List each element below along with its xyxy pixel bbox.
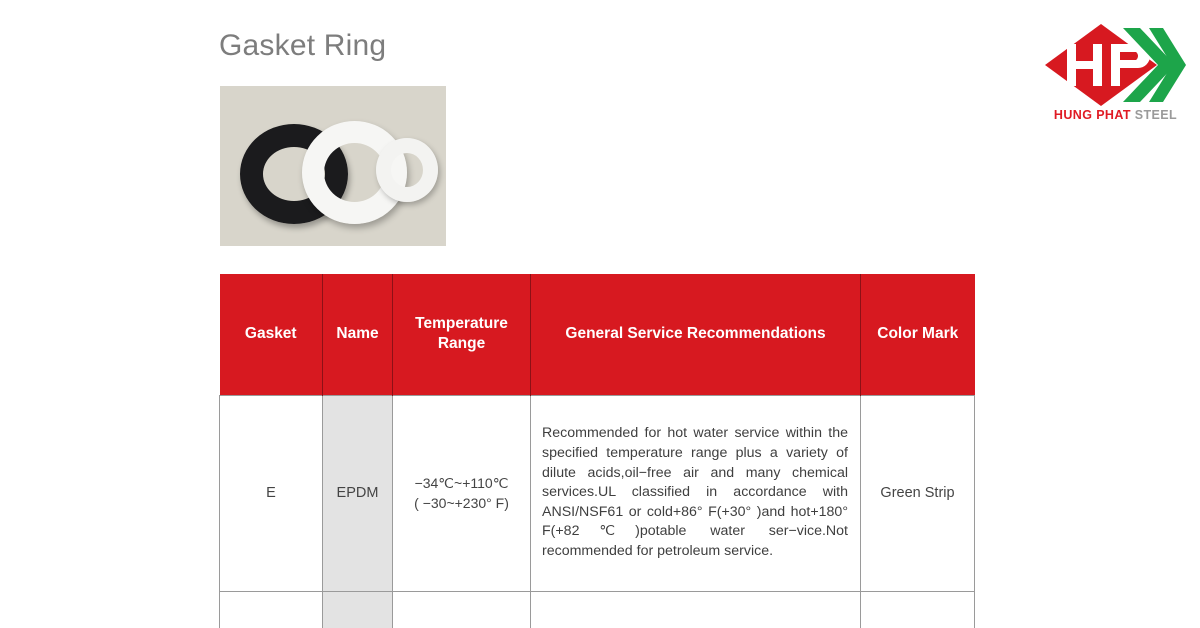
cell-temperature-range: [393, 591, 531, 628]
column-header-color-mark: Color Mark: [861, 274, 975, 395]
cell-name: [323, 591, 393, 628]
page-title: Gasket Ring: [219, 26, 386, 66]
logo-diamond-icon: [1043, 22, 1188, 108]
cell-gasket: E: [220, 395, 323, 591]
cell-color-mark: Green Strip: [861, 395, 975, 591]
logo-mark: [1043, 22, 1188, 108]
table-header: Gasket Name Temperature Range General Se…: [220, 274, 975, 395]
product-photo-scene: [220, 86, 446, 246]
cell-color-mark: [861, 591, 975, 628]
cell-temperature-range: −34℃~+110℃ ( −30~+230° F): [393, 395, 531, 591]
cell-general-service-recommendations: Recommended for hot water service within…: [531, 395, 861, 591]
hung-phat-steel-logo: HUNG PHAT STEEL: [1043, 22, 1188, 134]
white-gasket-ring-small: [376, 138, 438, 202]
table-header-row: Gasket Name Temperature Range General Se…: [220, 274, 975, 395]
page-root: Gasket Ring HUNG PHAT STEEL: [0, 0, 1200, 628]
table-body: E EPDM −34℃~+110℃ ( −30~+230° F) Recomme…: [220, 395, 975, 628]
temperature-range-line-2: ( −30~+230° F): [393, 493, 530, 513]
column-header-temperature-range: Temperature Range: [393, 274, 531, 395]
logo-caption-secondary: STEEL: [1135, 108, 1177, 122]
table-row: [220, 591, 975, 628]
cell-gasket: [220, 591, 323, 628]
gasket-spec-table: Gasket Name Temperature Range General Se…: [219, 274, 975, 628]
column-header-name: Name: [323, 274, 393, 395]
column-header-general-service-recommendations: General Service Recommendations: [531, 274, 861, 395]
logo-caption: HUNG PHAT STEEL: [1043, 108, 1188, 122]
product-photo: [220, 86, 446, 246]
column-header-gasket: Gasket: [220, 274, 323, 395]
cell-general-service-recommendations: [531, 591, 861, 628]
temperature-range-line-1: −34℃~+110℃: [393, 473, 530, 493]
cell-name: EPDM: [323, 395, 393, 591]
table-row: E EPDM −34℃~+110℃ ( −30~+230° F) Recomme…: [220, 395, 975, 591]
logo-caption-primary: HUNG PHAT: [1054, 108, 1131, 122]
